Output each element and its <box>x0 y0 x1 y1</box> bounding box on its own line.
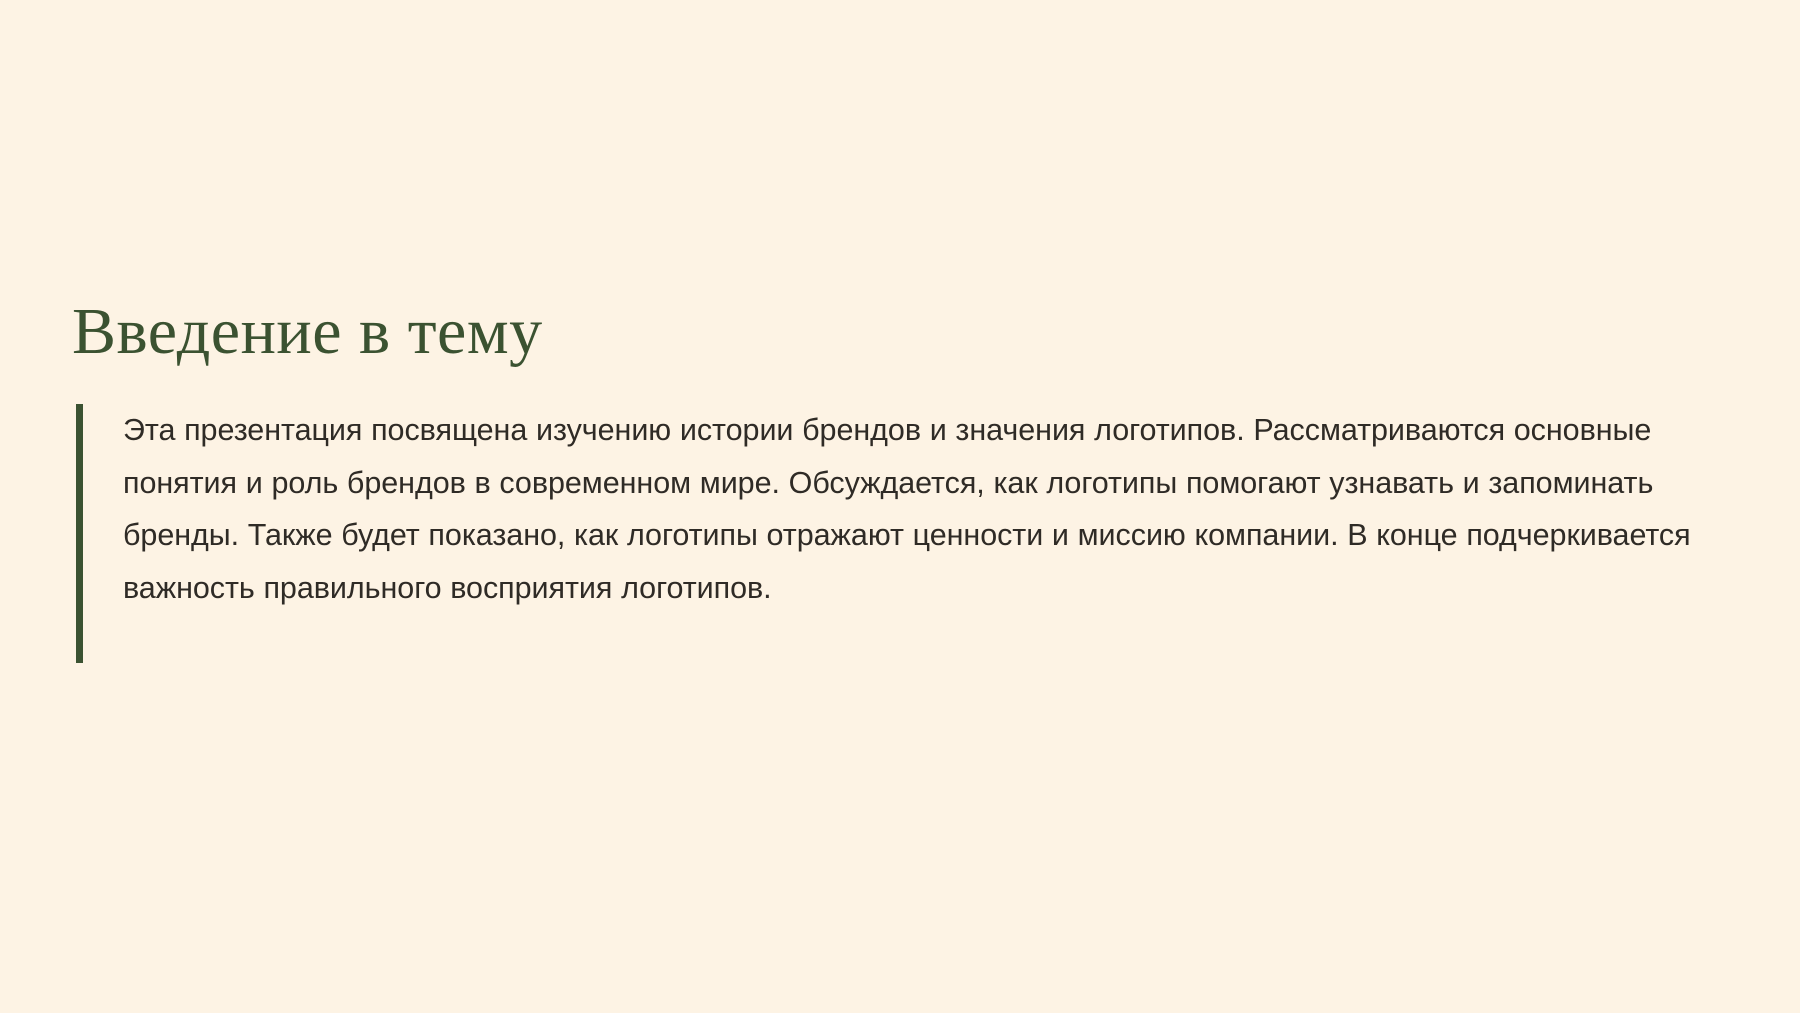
page-title: Введение в тему <box>72 292 543 372</box>
accent-bar <box>76 404 83 663</box>
body-paragraph: Эта презентация посвящена изучению истор… <box>83 404 1736 663</box>
presentation-slide: Введение в тему Эта презентация посвящен… <box>0 0 1800 1013</box>
body-callout: Эта презентация посвящена изучению истор… <box>76 404 1736 663</box>
